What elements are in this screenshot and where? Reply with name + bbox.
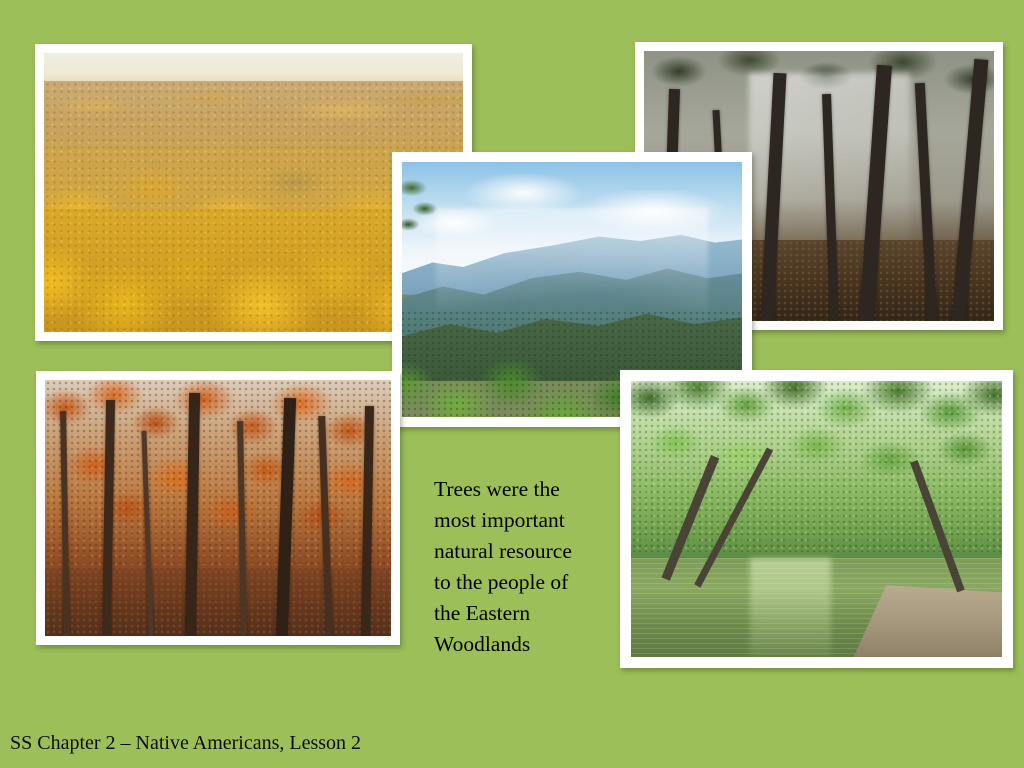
photo-frame-orange-forest[interactable] [36, 371, 400, 645]
photo-frame-green-river[interactable] [620, 370, 1013, 668]
slide-canvas: Trees were the most important natural re… [0, 0, 1024, 768]
orange-forest-floor [45, 569, 391, 636]
foreground-branch [402, 167, 456, 254]
footer-text: SS Chapter 2 – Native Americans, Lesson … [10, 730, 361, 756]
body-text: Trees were the most important natural re… [434, 474, 614, 660]
water-reflection [750, 558, 832, 657]
photo-orange-forest [45, 380, 391, 636]
orange-leaf-canopy [45, 380, 391, 575]
photo-green-river [631, 381, 1002, 657]
